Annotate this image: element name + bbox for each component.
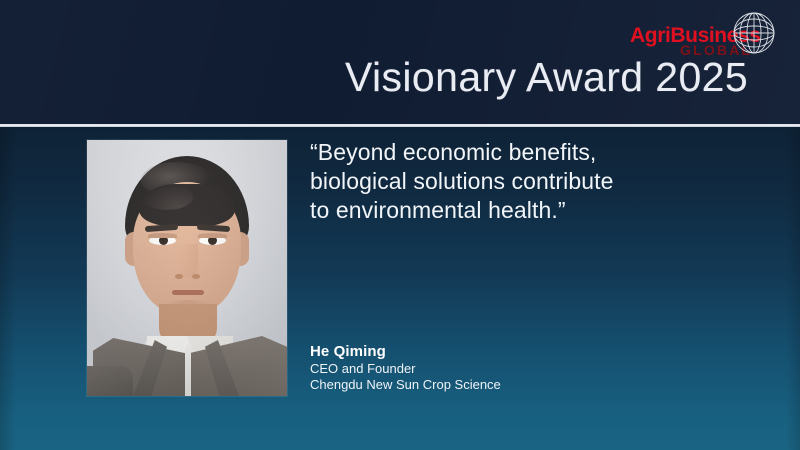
person-organization: Chengdu New Sun Crop Science — [310, 377, 630, 393]
award-slide: Visionary Award 2025 AgriBusiness GLOBAL — [0, 0, 800, 450]
photo-hair-part — [141, 184, 193, 210]
quote-line: to environmental health.” — [310, 196, 680, 225]
portrait-photo — [87, 140, 287, 396]
globe-icon — [729, 8, 779, 58]
quote-line: “Beyond economic benefits, — [310, 138, 680, 167]
quote-line: biological solutions contribute — [310, 167, 680, 196]
page-title: Visionary Award 2025 — [345, 57, 748, 98]
photo-nostril-left — [175, 274, 183, 279]
photo-arm-left — [87, 366, 133, 396]
photo-nose — [176, 244, 198, 278]
person-role: CEO and Founder — [310, 361, 630, 377]
photo-eyelid-left — [148, 233, 177, 238]
attribution-block: He Qiming CEO and Founder Chengdu New Su… — [310, 343, 630, 393]
person-name: He Qiming — [310, 343, 630, 361]
photo-nostril-right — [192, 274, 200, 279]
photo-eyelid-right — [198, 233, 227, 238]
quote-text: “Beyond economic benefits, biological so… — [310, 138, 680, 225]
brand-logo[interactable]: AgriBusiness GLOBAL — [628, 6, 794, 60]
photo-mouth — [172, 290, 204, 295]
slide-header: Visionary Award 2025 AgriBusiness GLOBAL — [0, 0, 800, 124]
